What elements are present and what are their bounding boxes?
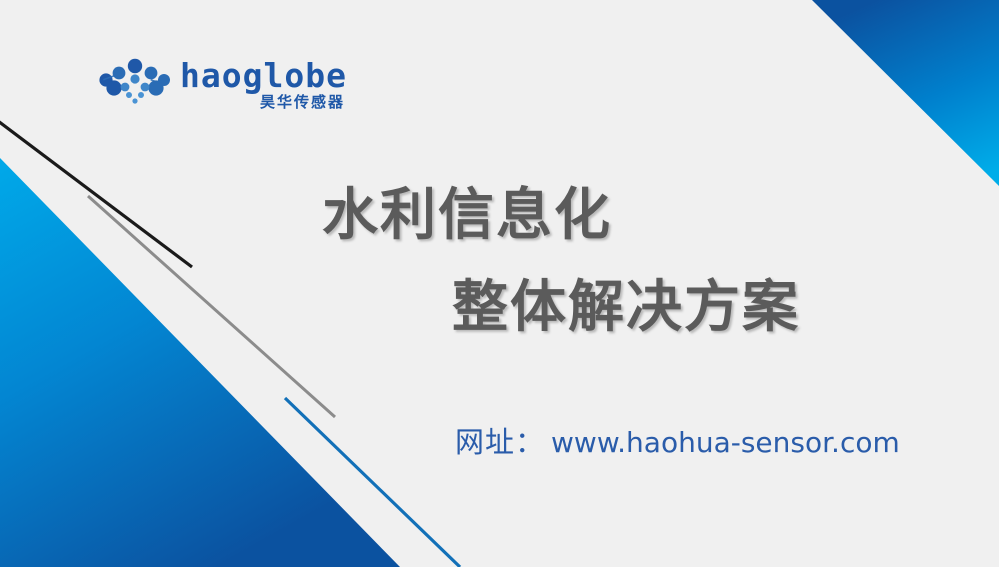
haoglobe-logo[interactable]: haoglobe 昊华传感器 — [98, 58, 347, 110]
title-line-2: 整体解决方案 — [452, 262, 800, 343]
website-label: 网址： — [455, 419, 545, 461]
website-line[interactable]: 网址： www.haohua-sensor.com — [455, 419, 900, 461]
title-line-1: 水利信息化 — [322, 170, 612, 251]
slide-canvas: haoglobe 昊华传感器 水利信息化 整体解决方案 网址： www.haoh… — [0, 0, 999, 567]
logo-subtitle: 昊华传感器 — [260, 95, 345, 110]
molecule-dots-icon — [98, 58, 172, 110]
website-url[interactable]: www.haohua-sensor.com — [551, 426, 900, 459]
logo-wordmark: haoglobe — [180, 59, 347, 92]
logo-text-group: haoglobe 昊华传感器 — [180, 59, 347, 110]
